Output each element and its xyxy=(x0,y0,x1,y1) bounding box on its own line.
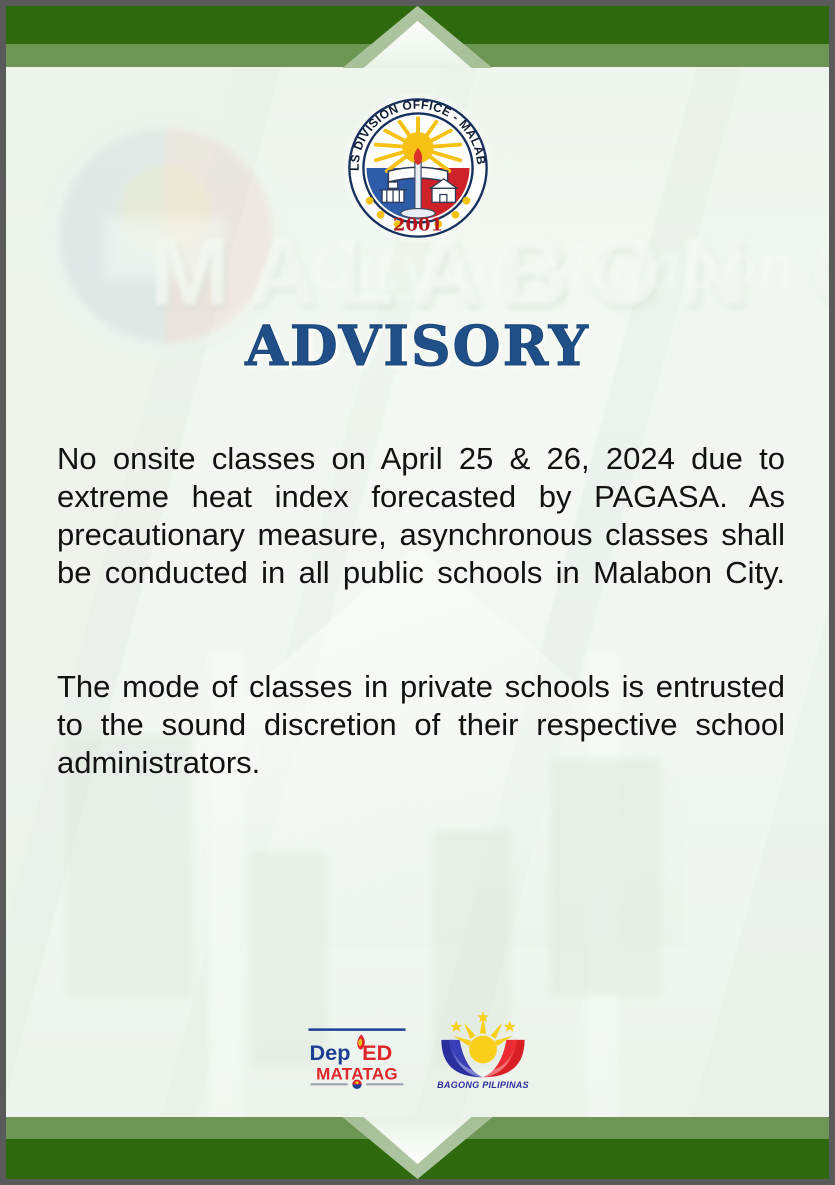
page-edge-right xyxy=(829,0,835,1185)
seal-year: 2001 xyxy=(393,214,443,235)
advisory-paragraph-1: No onsite classes on April 25 & 26, 2024… xyxy=(57,440,785,630)
paragraph-spacer xyxy=(57,630,785,668)
deped-matatag-logo: Dep ED MATATAG xyxy=(305,1026,409,1095)
bagong-pilipinas-label: BAGONG PILIPINAS xyxy=(437,1080,529,1090)
advisory-body: No onsite classes on April 25 & 26, 2024… xyxy=(57,440,785,820)
advisory-paragraph-2: The mode of classes in private schools i… xyxy=(57,668,785,820)
page-edge-left xyxy=(0,0,6,1185)
bagong-pilipinas-logo: BAGONG PILIPINAS xyxy=(435,1010,531,1095)
footer-logos: Dep ED MATATAG xyxy=(0,1010,835,1095)
matatag-emblem xyxy=(352,1080,361,1089)
deped-dep-text: Dep xyxy=(309,1040,350,1065)
advisory-poster: MALABON CIT City of Malabon SCHOOLS D xyxy=(0,0,835,1185)
deped-ed-text: ED xyxy=(362,1040,392,1065)
page-title: ADVISORY xyxy=(0,313,835,378)
page-edge-top xyxy=(0,0,835,6)
page-edge-bottom xyxy=(0,1179,835,1185)
sdo-malabon-seal: SCHOOLS DIVISION OFFICE - MALABON CITY xyxy=(340,90,496,246)
